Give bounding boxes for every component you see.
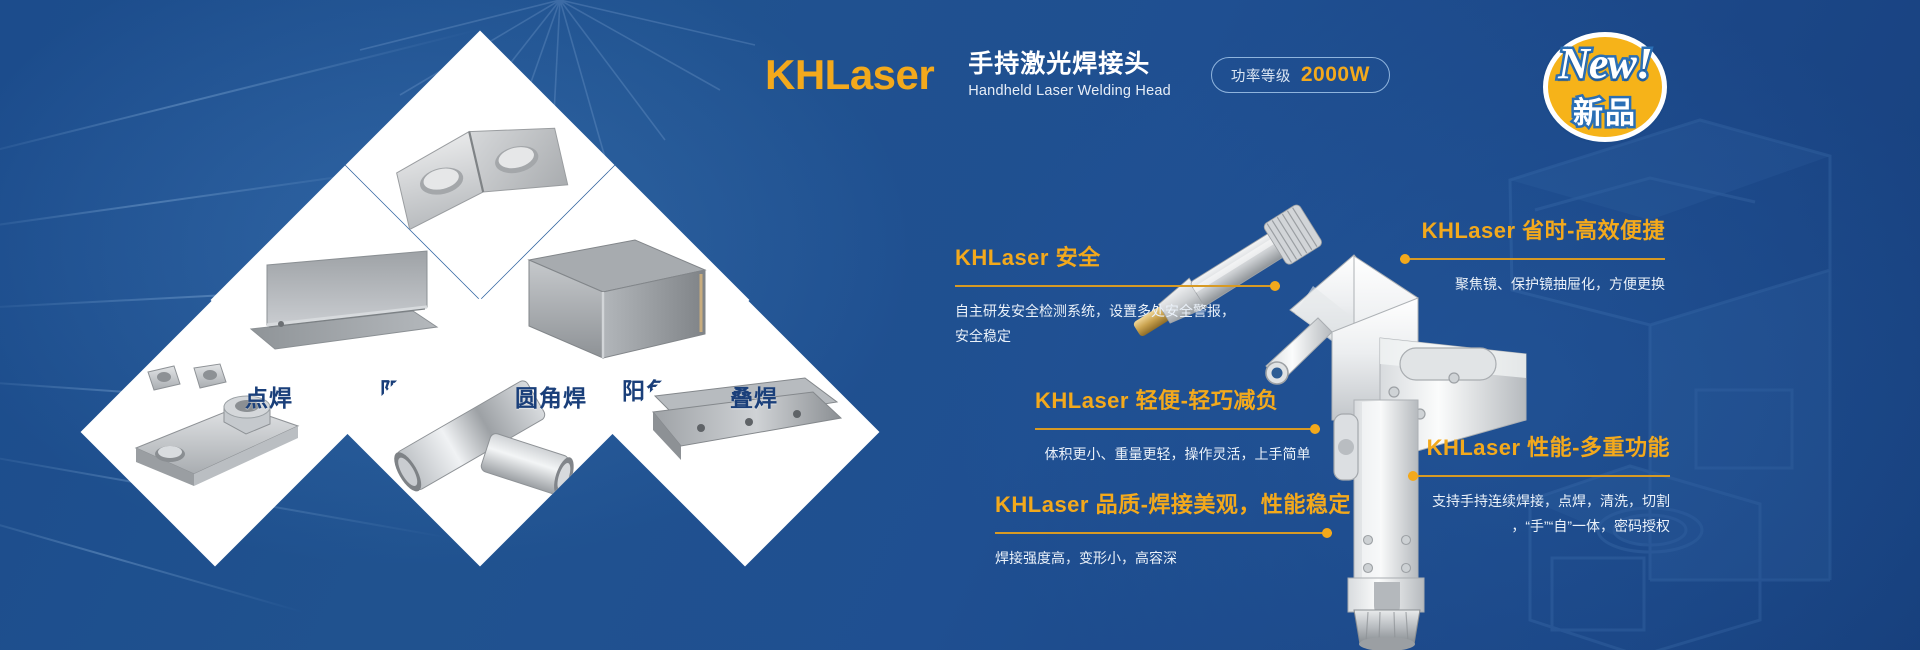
feature-lightweight-desc: 体积更小、重量更轻，操作灵活，上手简单 [1035, 442, 1320, 467]
new-product-badge: New! 新品 [1525, 22, 1685, 134]
mosaic-label-spot-weld: 点焊 [245, 379, 293, 413]
power-rating-value: 2000W [1301, 63, 1370, 87]
product-banner: 对接焊 [0, 0, 1920, 650]
mosaic-label-lap-weld: 叠焊 [730, 379, 778, 413]
feature-quality-title: KHLaser 品质-焊接美观，性能稳定 [995, 487, 1332, 519]
feature-performance: KHLaser 性能-多重功能 支持手持连续焊接，点焊，清洗，切割 ，“手”“自… [1408, 430, 1670, 538]
rule-line [995, 532, 1332, 534]
feature-time-saving-title: KHLaser 省时-高效便捷 [1400, 213, 1665, 245]
rule-line [1400, 258, 1665, 260]
rule-line [1408, 475, 1670, 477]
product-title-en: Handheld Laser Welding Head [968, 84, 1171, 99]
power-rating-label: 功率等级 [1231, 65, 1291, 86]
brand-header: KHLaser 手持激光焊接头 Handheld Laser Welding H… [765, 44, 1390, 106]
feature-performance-desc: 支持手持连续焊接，点焊，清洗，切割 ，“手”“自”一体，密码授权 [1408, 489, 1670, 538]
product-title-cn: 手持激光焊接头 [968, 51, 1171, 77]
rule-dot [1322, 528, 1332, 538]
new-badge-cn-text: 新品 [1525, 88, 1685, 132]
feature-performance-title: KHLaser 性能-多重功能 [1408, 430, 1670, 462]
rule-line [1035, 428, 1320, 430]
rule-dot [1408, 471, 1418, 481]
rule-line [955, 285, 1280, 287]
feature-time-saving-desc: 聚焦镜、保护镜抽屉化，方便更换 [1400, 272, 1665, 297]
feature-lightweight-title: KHLaser 轻便-轻巧减负 [1035, 383, 1320, 415]
feature-quality-rule [995, 528, 1332, 538]
feature-quality: KHLaser 品质-焊接美观，性能稳定 焊接强度高，变形小，高容深 [995, 487, 1332, 571]
feature-lightweight-rule [1035, 424, 1320, 434]
product-title-block: 手持激光焊接头 Handheld Laser Welding Head [968, 51, 1171, 98]
feature-lightweight: KHLaser 轻便-轻巧减负 体积更小、重量更轻，操作灵活，上手简单 [1035, 383, 1320, 467]
two-plates-with-holes-icon [385, 100, 575, 230]
welding-types-mosaic: 对接焊 [170, 45, 790, 475]
open-box-corner-icon [515, 230, 715, 370]
power-rating-badge: 功率等级 2000W [1211, 57, 1390, 93]
rule-dot [1400, 254, 1410, 264]
feature-safety-desc: 自主研发安全检测系统，设置多处安全警报， 安全稳定 [955, 299, 1280, 348]
l-bracket-plate-icon [245, 235, 445, 365]
mosaic-label-round-fillet: 圆角焊 [515, 379, 587, 413]
feature-time-saving: KHLaser 省时-高效便捷 聚焦镜、保护镜抽屉化，方便更换 [1400, 213, 1665, 297]
feature-safety: KHLaser 安全 自主研发安全检测系统，设置多处安全警报， 安全稳定 [955, 240, 1280, 348]
brand-logo: KHLaser [765, 54, 934, 96]
feature-time-saving-rule [1400, 254, 1665, 264]
feature-quality-desc: 焊接强度高，变形小，高容深 [995, 546, 1332, 571]
rule-dot [1310, 424, 1320, 434]
feature-safety-rule [955, 281, 1280, 291]
rule-dot [1270, 281, 1280, 291]
feature-performance-rule [1408, 471, 1670, 481]
feature-safety-title: KHLaser 安全 [955, 240, 1280, 272]
new-badge-en-text: New! [1527, 38, 1683, 89]
background-machine-silhouette [1500, 60, 1920, 650]
